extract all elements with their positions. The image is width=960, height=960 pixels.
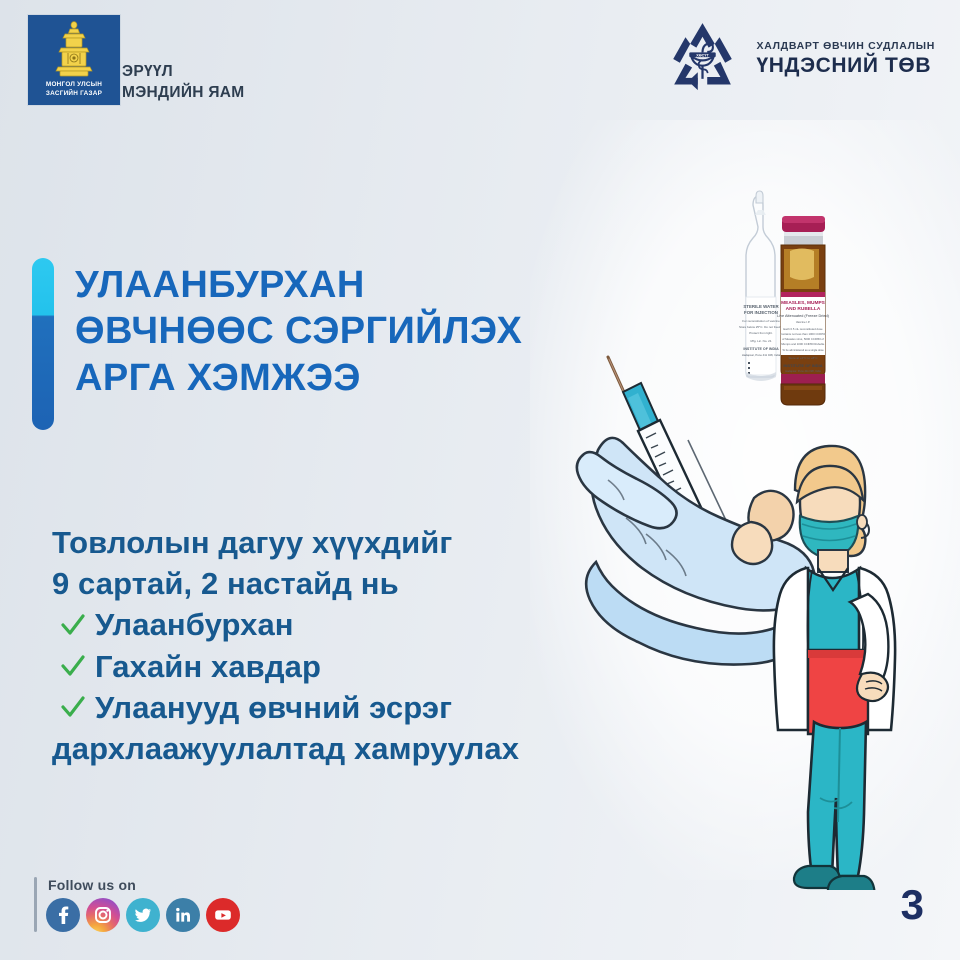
svg-text:Each 0.5 mL reconstituted dose: Each 0.5 mL reconstituted dose — [783, 327, 823, 331]
bullet-label-2: Гахайн хавдар — [95, 646, 321, 687]
bullet-label-1: Улаанбурхан — [95, 604, 294, 645]
svg-text:Store at +2°C to +8°C: Store at +2°C to +8°C — [788, 356, 818, 360]
page-number: 3 — [901, 884, 924, 926]
footer: Follow us on — [34, 877, 240, 932]
footer-divider — [34, 877, 37, 932]
svg-text:Hadapsar, Pune 411 028, India: Hadapsar, Pune 411 028, India — [742, 353, 781, 357]
clear-ampoule-diluent-icon: STERILE WATER FOR INJECTION For reconsti… — [739, 191, 783, 381]
bullet-label-3: Улаанууд өвчний эсрэг — [95, 687, 452, 728]
svg-text:To be administered as a single: To be administered as a single dose — [782, 348, 824, 352]
nccd-logo-block: ХӨСҮТ ХАЛДВАРТ ӨВЧИН СУДЛАЛЫН ҮНДЭСНИЙ Т… — [660, 18, 935, 100]
svg-text:Live Attenuated (Freeze Dried): Live Attenuated (Freeze Dried) — [777, 314, 829, 318]
government-logo: МОНГОЛ УЛСЫН ЗАСГИЙН ГАЗАР — [27, 14, 121, 106]
nccd-line1: ХАЛДВАРТ ӨВЧИН СУДЛАЛЫН — [756, 41, 935, 53]
header: МОНГОЛ УЛСЫН ЗАСГИЙН ГАЗАР ЭРҮҮЛ МЭНДИЙН… — [0, 0, 960, 130]
title-line-2: ӨВЧНӨӨС СЭРГИЙЛЭХ — [75, 308, 522, 354]
amber-vaccine-vial-icon: MEASLES, MUMPS AND RUBELLA Live Attenuat… — [777, 216, 829, 405]
svg-text:of Measles virus, 5000 CCID50: of Measles virus, 5000 CCID50 of — [782, 337, 824, 341]
vaccination-illustration: STERILE WATER FOR INJECTION For reconsti… — [568, 150, 960, 890]
social-links[interactable] — [46, 898, 240, 932]
svg-text:contains not less than 1000 CC: contains not less than 1000 CCID50 — [781, 332, 826, 336]
body-intro-line-2: 9 сартай, 2 настайд нь — [52, 563, 592, 604]
government-logo-text: МОНГОЛ УЛСЫН ЗАСГИЙН ГАЗАР — [46, 80, 102, 99]
svg-text:MEASLES, MUMPS: MEASLES, MUMPS — [781, 300, 826, 306]
instagram-icon[interactable] — [86, 898, 120, 932]
svg-text:Vaccine I.P.: Vaccine I.P. — [796, 320, 811, 324]
svg-text:For reconstitution of vaccine: For reconstitution of vaccine — [742, 319, 780, 323]
svg-text:ХӨСҮТ: ХӨСҮТ — [697, 54, 710, 58]
follow-us-label: Follow us on — [48, 877, 240, 893]
ministry-line2: МЭНДИЙН ЯАМ — [122, 83, 245, 104]
body-outro-line: дархлаажуулалтад хамруулах — [52, 728, 592, 769]
svg-text:INSTITUTE OF INDIA: INSTITUTE OF INDIA — [743, 347, 779, 351]
check-icon — [60, 694, 86, 720]
facebook-icon[interactable] — [46, 898, 80, 932]
title-accent-bar — [32, 258, 54, 430]
svg-text:Mumps and 1000 CCID50 Rubella.: Mumps and 1000 CCID50 Rubella. — [781, 342, 825, 346]
list-item: Гахайн хавдар — [60, 646, 592, 687]
check-icon — [60, 653, 86, 679]
list-item: Улаанууд өвчний эсрэг — [60, 687, 592, 728]
svg-text:INSTITUTE OF INDIA: INSTITUTE OF INDIA — [783, 363, 822, 368]
svg-text:AND RUBELLA: AND RUBELLA — [786, 306, 821, 312]
title-line-1: УЛААНБУРХАН — [75, 262, 522, 308]
svg-text:Hadapsar, Pune 411 028, India: Hadapsar, Pune 411 028, India — [785, 369, 821, 373]
title-line-3: АРГА ХЭМЖЭЭ — [75, 355, 522, 401]
page-title: УЛААНБУРХАН ӨВЧНӨӨС СЭРГИЙЛЭХ АРГА ХЭМЖЭ… — [75, 258, 522, 430]
nccd-triangle-caduceus-logo-icon: ХӨСҮТ — [660, 18, 745, 100]
svg-text:FOR INJECTION: FOR INJECTION — [744, 310, 778, 315]
svg-text:Store below 25°C. Do not freez: Store below 25°C. Do not freeze. — [739, 325, 783, 329]
ministry-line1: ЭРҮҮЛ — [122, 62, 245, 83]
nccd-text: ХАЛДВАРТ ӨВЧИН СУДЛАЛЫН ҮНДЭСНИЙ ТӨВ — [756, 41, 935, 78]
title-block: УЛААНБУРХАН ӨВЧНӨӨС СЭРГИЙЛЭХ АРГА ХЭМЖЭ… — [32, 258, 522, 430]
ministry-name: ЭРҮҮЛ МЭНДИЙН ЯАМ — [122, 62, 245, 104]
nccd-line2: ҮНДЭСНИЙ ТӨВ — [756, 54, 935, 77]
check-icon — [60, 612, 86, 638]
linkedin-icon[interactable] — [166, 898, 200, 932]
twitter-icon[interactable] — [126, 898, 160, 932]
body-intro-line-1: Товлолын дагуу хүүхдийг — [52, 522, 592, 563]
gov-logo-line1: МОНГОЛ УЛСЫН — [46, 80, 102, 89]
body-block: Товлолын дагуу хүүхдийг 9 сартай, 2 наст… — [52, 522, 592, 769]
svg-text:Protect from light.: Protect from light. — [749, 331, 773, 335]
mongolia-government-emblem-icon — [51, 20, 97, 78]
gov-logo-line2: ЗАСГИЙН ГАЗАР — [46, 89, 102, 98]
svg-text:Mfg. Lic. No. 21: Mfg. Lic. No. 21 — [750, 339, 771, 343]
list-item: Улаанбурхан — [60, 604, 592, 645]
youtube-icon[interactable] — [206, 898, 240, 932]
svg-text:STERILE WATER: STERILE WATER — [743, 304, 779, 309]
illustration: STERILE WATER FOR INJECTION For reconsti… — [568, 150, 960, 890]
